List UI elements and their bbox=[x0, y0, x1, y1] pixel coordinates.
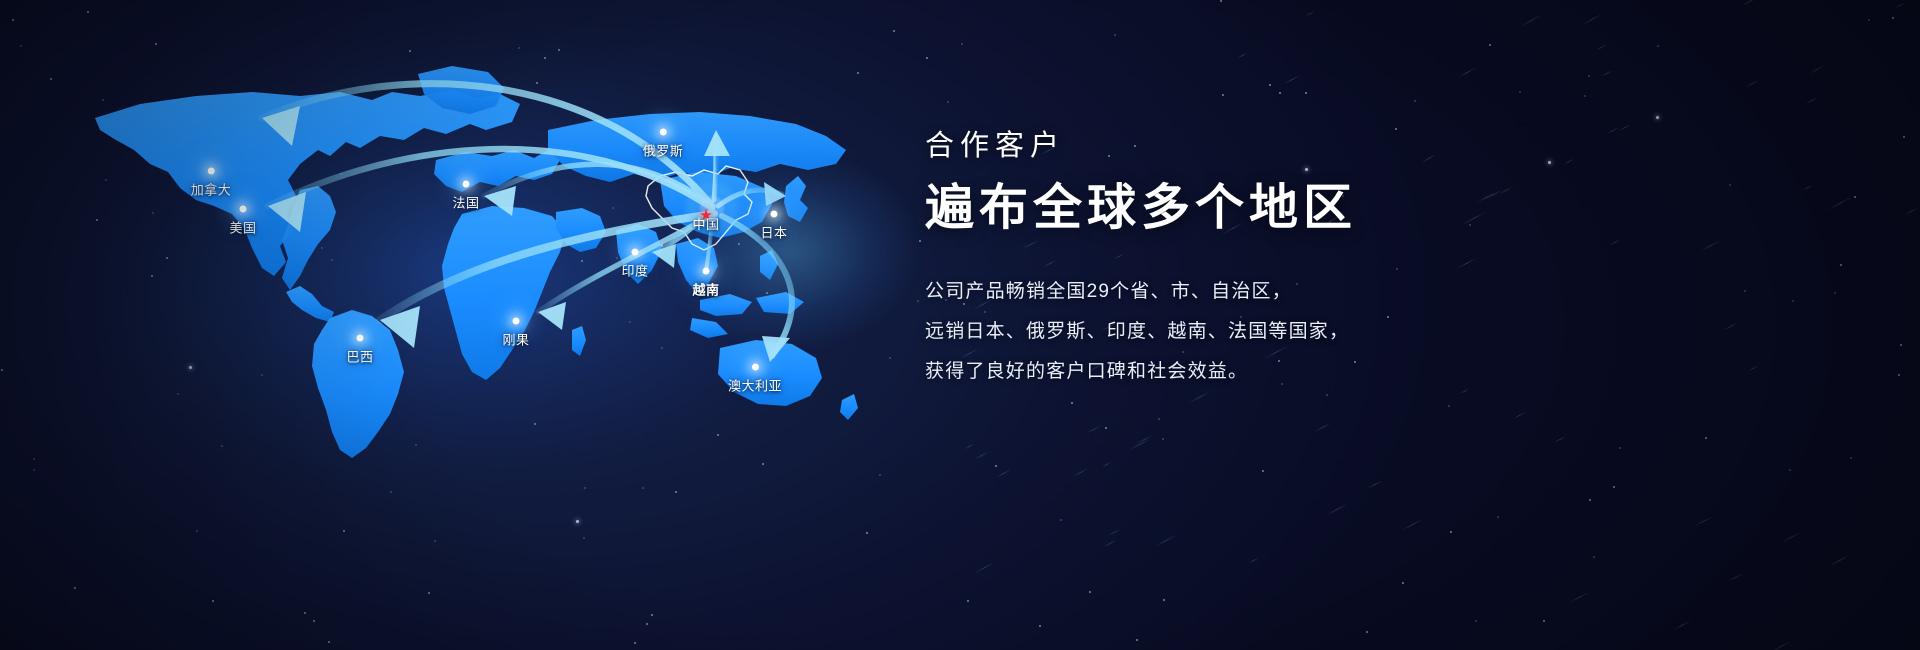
star-streak bbox=[1326, 504, 1348, 516]
star-speck bbox=[1162, 438, 1164, 440]
star-speck bbox=[1060, 519, 1062, 521]
map-marker-usa[interactable]: 美国 bbox=[229, 206, 256, 237]
star-speck bbox=[1898, 374, 1900, 376]
star-streak bbox=[1781, 532, 1801, 543]
star-streak bbox=[1368, 480, 1383, 489]
star-streak bbox=[1829, 554, 1850, 566]
map-marker-japan[interactable]: 日本 bbox=[760, 211, 787, 242]
star-streak bbox=[1127, 437, 1151, 451]
star-speck bbox=[1448, 405, 1450, 407]
location-dot-icon bbox=[702, 268, 709, 275]
map-marker-china[interactable]: ★中国 bbox=[692, 209, 719, 233]
star-streak bbox=[1894, 1, 1907, 8]
star-streak bbox=[1673, 620, 1691, 630]
copy-block: 合作客户 遍布全球多个地区 公司产品畅销全国29个省、市、自治区，远销日本、俄罗… bbox=[925, 128, 1725, 392]
star-streak bbox=[1401, 518, 1424, 531]
star-speck bbox=[1402, 582, 1404, 584]
star-streak bbox=[1809, 65, 1825, 74]
location-dot-icon bbox=[770, 211, 777, 218]
star-speck bbox=[1705, 437, 1707, 439]
star-streak bbox=[1771, 640, 1793, 650]
star-streak bbox=[1748, 365, 1759, 372]
star-streak bbox=[1601, 70, 1614, 77]
star-speck bbox=[1589, 499, 1591, 501]
star-streak bbox=[1306, 10, 1316, 16]
star-streak bbox=[1237, 52, 1249, 59]
star-streak bbox=[1805, 97, 1818, 105]
star-speck bbox=[1039, 625, 1041, 627]
star-speck bbox=[1326, 394, 1328, 396]
star-speck bbox=[1262, 470, 1264, 472]
star-streak bbox=[1904, 207, 1919, 215]
description-line-1: 公司产品畅销全国29个省、市、自治区， bbox=[925, 272, 1725, 312]
map-marker-label: 美国 bbox=[229, 218, 256, 237]
star-streak bbox=[1581, 13, 1603, 25]
star-speck bbox=[1868, 19, 1870, 21]
map-marker-congo[interactable]: 刚果 bbox=[502, 318, 529, 349]
map-marker-vietnam[interactable]: 越南 bbox=[692, 268, 719, 299]
star-streak bbox=[1102, 461, 1112, 467]
location-dot-icon bbox=[512, 318, 519, 325]
star-speck bbox=[1657, 45, 1659, 47]
star-streak bbox=[1136, 435, 1153, 445]
star-streak bbox=[1314, 422, 1331, 432]
star-streak bbox=[1155, 534, 1177, 546]
star-speck bbox=[1593, 556, 1595, 558]
star-streak bbox=[1103, 540, 1117, 548]
star-speck bbox=[1744, 290, 1746, 292]
star-speck bbox=[1475, 620, 1477, 622]
map-marker-label: 中国 bbox=[692, 214, 719, 233]
location-dot-icon bbox=[207, 168, 214, 175]
star-speck bbox=[1366, 631, 1368, 633]
map-marker-australia[interactable]: 澳大利亚 bbox=[728, 364, 782, 395]
star-streak bbox=[1728, 573, 1743, 582]
star-streak bbox=[1513, 411, 1526, 419]
page-title: 遍布全球多个地区 bbox=[925, 180, 1725, 238]
global-clients-banner: 加拿大美国巴西法国刚果俄罗斯印度★中国日本越南澳大利亚 合作客户 遍布全球多个地… bbox=[0, 0, 1920, 650]
star-speck bbox=[1834, 292, 1836, 294]
star-speck bbox=[1414, 100, 1416, 102]
location-dot-icon bbox=[356, 335, 363, 342]
map-marker-label: 俄罗斯 bbox=[643, 141, 684, 160]
star-streak bbox=[1568, 591, 1590, 603]
star-speck bbox=[1519, 91, 1521, 93]
star-speck bbox=[1450, 531, 1452, 533]
star-speck bbox=[1136, 639, 1138, 641]
map-marker-label: 刚果 bbox=[502, 330, 529, 349]
location-dot-icon bbox=[631, 249, 638, 256]
star-streak bbox=[1746, 80, 1760, 88]
overline-text: 合作客户 bbox=[925, 128, 1725, 166]
star-streak bbox=[1072, 468, 1089, 478]
world-map: 加拿大美国巴西法国刚果俄罗斯印度★中国日本越南澳大利亚 bbox=[0, 0, 1000, 650]
location-dot-icon bbox=[751, 364, 758, 371]
star-speck bbox=[1789, 469, 1791, 471]
star-speck bbox=[1903, 136, 1905, 138]
map-marker-canada[interactable]: 加拿大 bbox=[191, 168, 232, 199]
map-marker-label: 澳大利亚 bbox=[728, 376, 782, 395]
star-speck bbox=[1269, 84, 1271, 86]
star-streak bbox=[1457, 66, 1477, 77]
star-speck bbox=[1543, 620, 1545, 622]
star-speck bbox=[1792, 300, 1794, 302]
star-streak bbox=[1596, 44, 1608, 51]
star-streak bbox=[1283, 75, 1301, 85]
map-marker-label: 越南 bbox=[692, 280, 719, 299]
star-speck bbox=[1489, 44, 1491, 46]
star-streak bbox=[1108, 529, 1121, 536]
description-line-2: 远销日本、俄罗斯、印度、越南、法国等国家， bbox=[925, 312, 1725, 352]
star-speck bbox=[1900, 344, 1902, 346]
star-streak bbox=[1554, 436, 1567, 443]
star-streak bbox=[1086, 425, 1102, 434]
star-streak bbox=[1694, 516, 1713, 527]
star-speck bbox=[1114, 34, 1116, 36]
star-streak bbox=[1828, 196, 1853, 210]
star-speck bbox=[1729, 184, 1731, 186]
star-streak bbox=[1723, 322, 1739, 331]
star-speck bbox=[1158, 418, 1160, 420]
star-speck bbox=[1222, 94, 1224, 96]
star-streak bbox=[1188, 391, 1211, 404]
star-streak bbox=[1247, 557, 1259, 564]
star-speck bbox=[1089, 591, 1091, 593]
map-marker-label: 巴西 bbox=[346, 347, 373, 366]
map-marker-label: 日本 bbox=[760, 223, 787, 242]
star-speck bbox=[1071, 402, 1073, 404]
star-speck bbox=[1588, 75, 1590, 77]
map-marker-france[interactable]: 法国 bbox=[452, 181, 479, 212]
map-marker-brazil[interactable]: 巴西 bbox=[346, 335, 373, 366]
star-speck bbox=[1619, 447, 1621, 449]
star-speck bbox=[1850, 457, 1852, 459]
star-speck bbox=[1105, 427, 1107, 429]
star-speck bbox=[1305, 92, 1307, 94]
star-speck bbox=[1840, 264, 1842, 266]
star-speck bbox=[1656, 116, 1659, 119]
star-speck bbox=[1854, 196, 1856, 198]
location-dot-icon bbox=[239, 206, 246, 213]
description-line-3: 获得了良好的客户口碑和社会效益。 bbox=[925, 352, 1725, 392]
star-streak bbox=[1803, 184, 1814, 191]
star-speck bbox=[1279, 92, 1281, 94]
star-speck bbox=[1892, 17, 1894, 19]
world-map-svg bbox=[0, 0, 1000, 650]
star-speck bbox=[1613, 486, 1615, 488]
star-speck bbox=[1220, 0, 1222, 2]
map-marker-label: 法国 bbox=[452, 193, 479, 212]
location-dot-icon bbox=[659, 129, 666, 136]
star-speck bbox=[1497, 516, 1499, 518]
star-streak bbox=[1520, 14, 1544, 27]
description-paragraph: 公司产品畅销全国29个省、市、自治区，远销日本、俄罗斯、印度、越南、法国等国家，… bbox=[925, 272, 1725, 392]
location-dot-icon bbox=[462, 181, 469, 188]
map-marker-india[interactable]: 印度 bbox=[621, 249, 648, 280]
star-streak bbox=[1741, 0, 1758, 6]
map-marker-label: 印度 bbox=[621, 261, 648, 280]
star-speck bbox=[1163, 599, 1165, 601]
map-marker-label: 加拿大 bbox=[191, 180, 232, 199]
map-marker-russia[interactable]: 俄罗斯 bbox=[643, 129, 684, 160]
star-speck bbox=[1584, 95, 1586, 97]
